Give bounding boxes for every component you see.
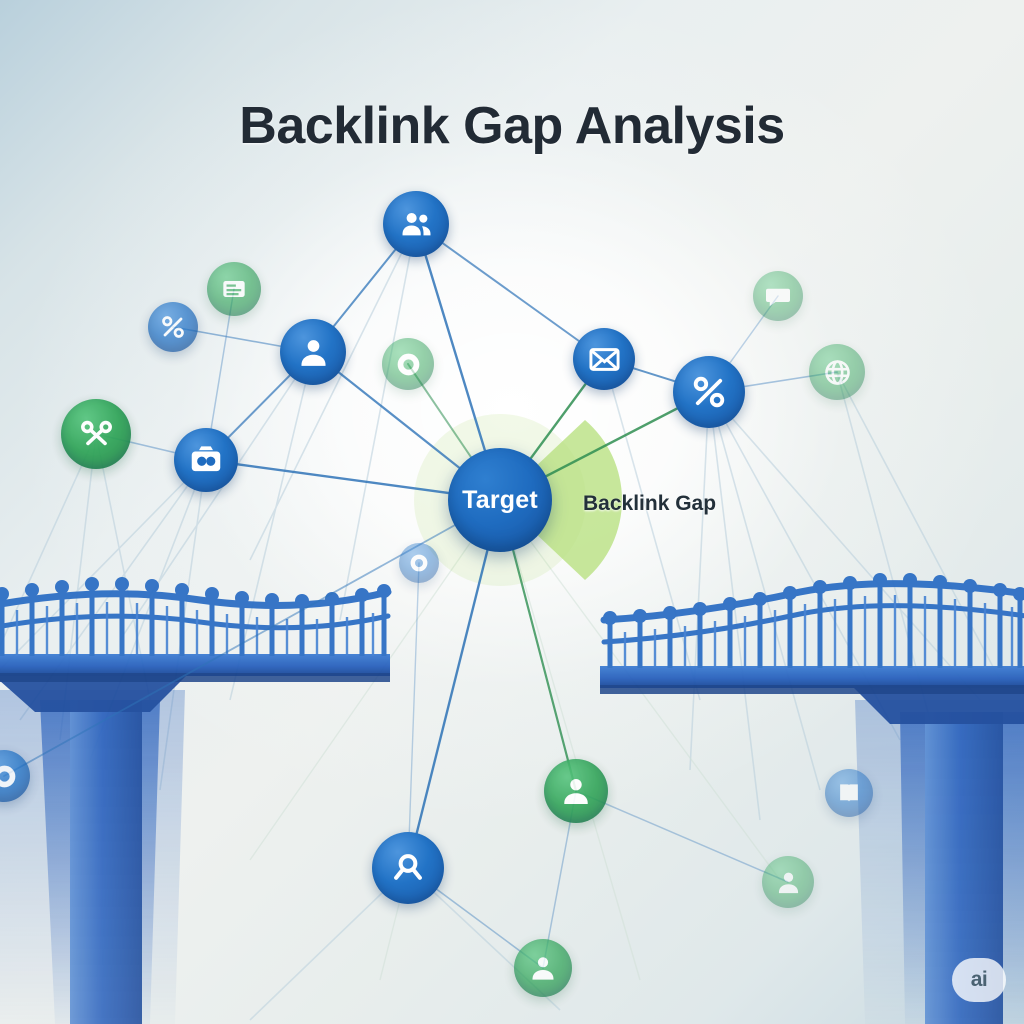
node-user-green-3[interactable] xyxy=(514,939,572,997)
ring-icon xyxy=(0,761,20,792)
book-icon xyxy=(835,779,863,807)
target-node[interactable]: Target xyxy=(448,448,552,552)
node-briefcase[interactable] xyxy=(174,428,238,492)
people-group-icon xyxy=(397,205,436,244)
chat-icon xyxy=(763,281,793,311)
node-edge-left[interactable] xyxy=(0,750,30,802)
node-chat-right[interactable] xyxy=(753,271,803,321)
node-user-left[interactable] xyxy=(280,319,346,385)
node-book-right[interactable] xyxy=(825,769,873,817)
node-people-group[interactable] xyxy=(383,191,449,257)
percent-icon xyxy=(158,312,188,342)
node-globe-right[interactable] xyxy=(809,344,865,400)
node-percent-right[interactable] xyxy=(673,356,745,428)
page-title: Backlink Gap Analysis xyxy=(0,96,1024,156)
node-percent-left[interactable] xyxy=(148,302,198,352)
scissors-icon xyxy=(76,414,117,455)
node-ring-center[interactable] xyxy=(399,543,439,583)
user-icon xyxy=(294,333,333,372)
user-icon xyxy=(557,772,595,810)
backlink-gap-label: Backlink Gap xyxy=(583,492,716,516)
ai-watermark-badge: ai xyxy=(952,958,1006,1002)
node-search-bottom[interactable] xyxy=(372,832,444,904)
ring-icon xyxy=(407,551,431,575)
node-user-green-2[interactable] xyxy=(762,856,814,908)
target-node-label: Target xyxy=(462,486,538,515)
briefcase-icon xyxy=(187,441,225,479)
ai-watermark-label: ai xyxy=(971,968,988,992)
node-mail-sigma[interactable] xyxy=(573,328,635,390)
node-scissors[interactable] xyxy=(61,399,131,469)
user-icon xyxy=(526,951,560,985)
globe-icon xyxy=(821,356,854,389)
node-user-green[interactable] xyxy=(544,759,608,823)
node-ring-green[interactable] xyxy=(382,338,434,390)
search-icon xyxy=(387,847,429,889)
percent-icon xyxy=(688,371,730,413)
user-icon xyxy=(773,867,804,898)
document-icon xyxy=(218,273,250,305)
node-document[interactable] xyxy=(207,262,261,316)
infographic-canvas: Target Backlink Gap Backlink Gap Analysi… xyxy=(0,0,1024,1024)
mail-icon xyxy=(586,341,623,378)
ring-icon xyxy=(393,349,424,380)
